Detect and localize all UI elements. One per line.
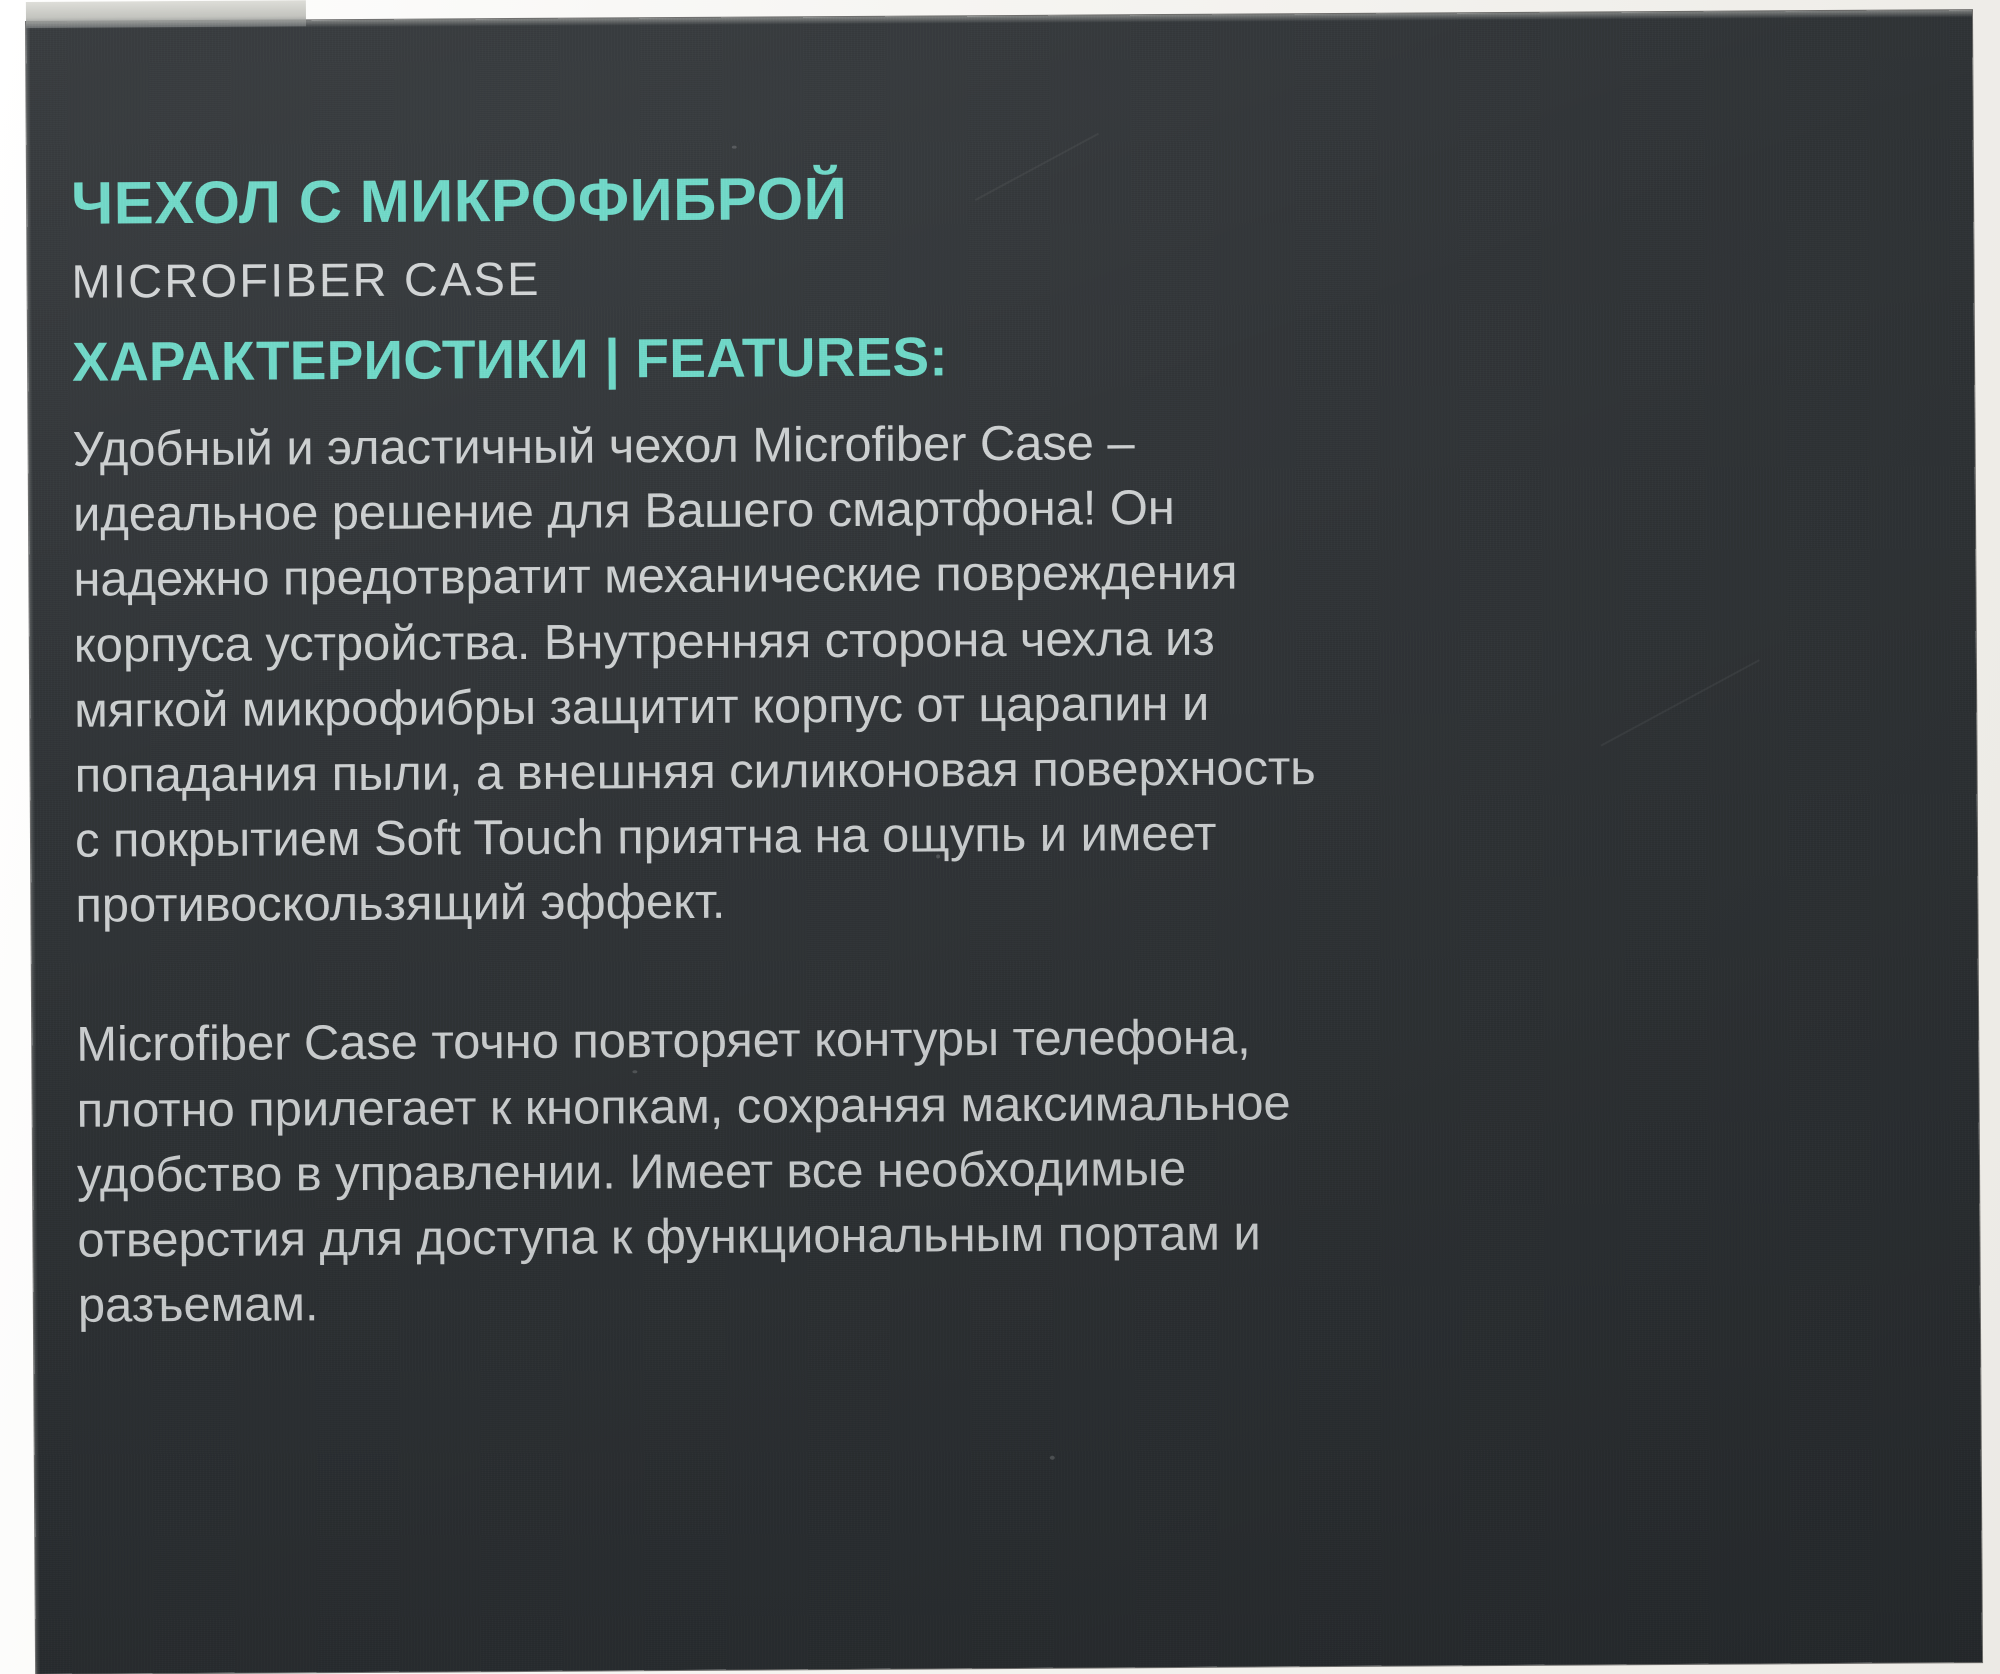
product-title-english: MICROFIBER CASE bbox=[71, 247, 1591, 306]
description-paragraph-1: Удобный и эластичный чехол Microfiber Ca… bbox=[72, 409, 1595, 940]
carton-tuck-flap bbox=[26, 0, 306, 28]
description-paragraph-2: Microfiber Case точно повторяет контуры … bbox=[76, 1004, 1598, 1339]
dust-speck bbox=[732, 146, 737, 149]
dust-speck bbox=[1050, 1456, 1055, 1460]
paragraph-spacer bbox=[76, 930, 1596, 1013]
product-title-russian: ЧЕХОЛ С МИКРОФИБРОЙ bbox=[71, 162, 1591, 234]
features-heading: ХАРАКТЕРИСТИКИ | FEATURES: bbox=[72, 325, 1592, 392]
package-back-panel: ЧЕХОЛ С МИКРОФИБРОЙ MICROFIBER CASE ХАРА… bbox=[26, 10, 1982, 1674]
product-package-photo: ЧЕХОЛ С МИКРОФИБРОЙ MICROFIBER CASE ХАРА… bbox=[0, 0, 2000, 1674]
surface-scuff bbox=[1601, 659, 1760, 746]
panel-text-block: ЧЕХОЛ С МИКРОФИБРОЙ MICROFIBER CASE ХАРА… bbox=[71, 162, 1598, 1338]
